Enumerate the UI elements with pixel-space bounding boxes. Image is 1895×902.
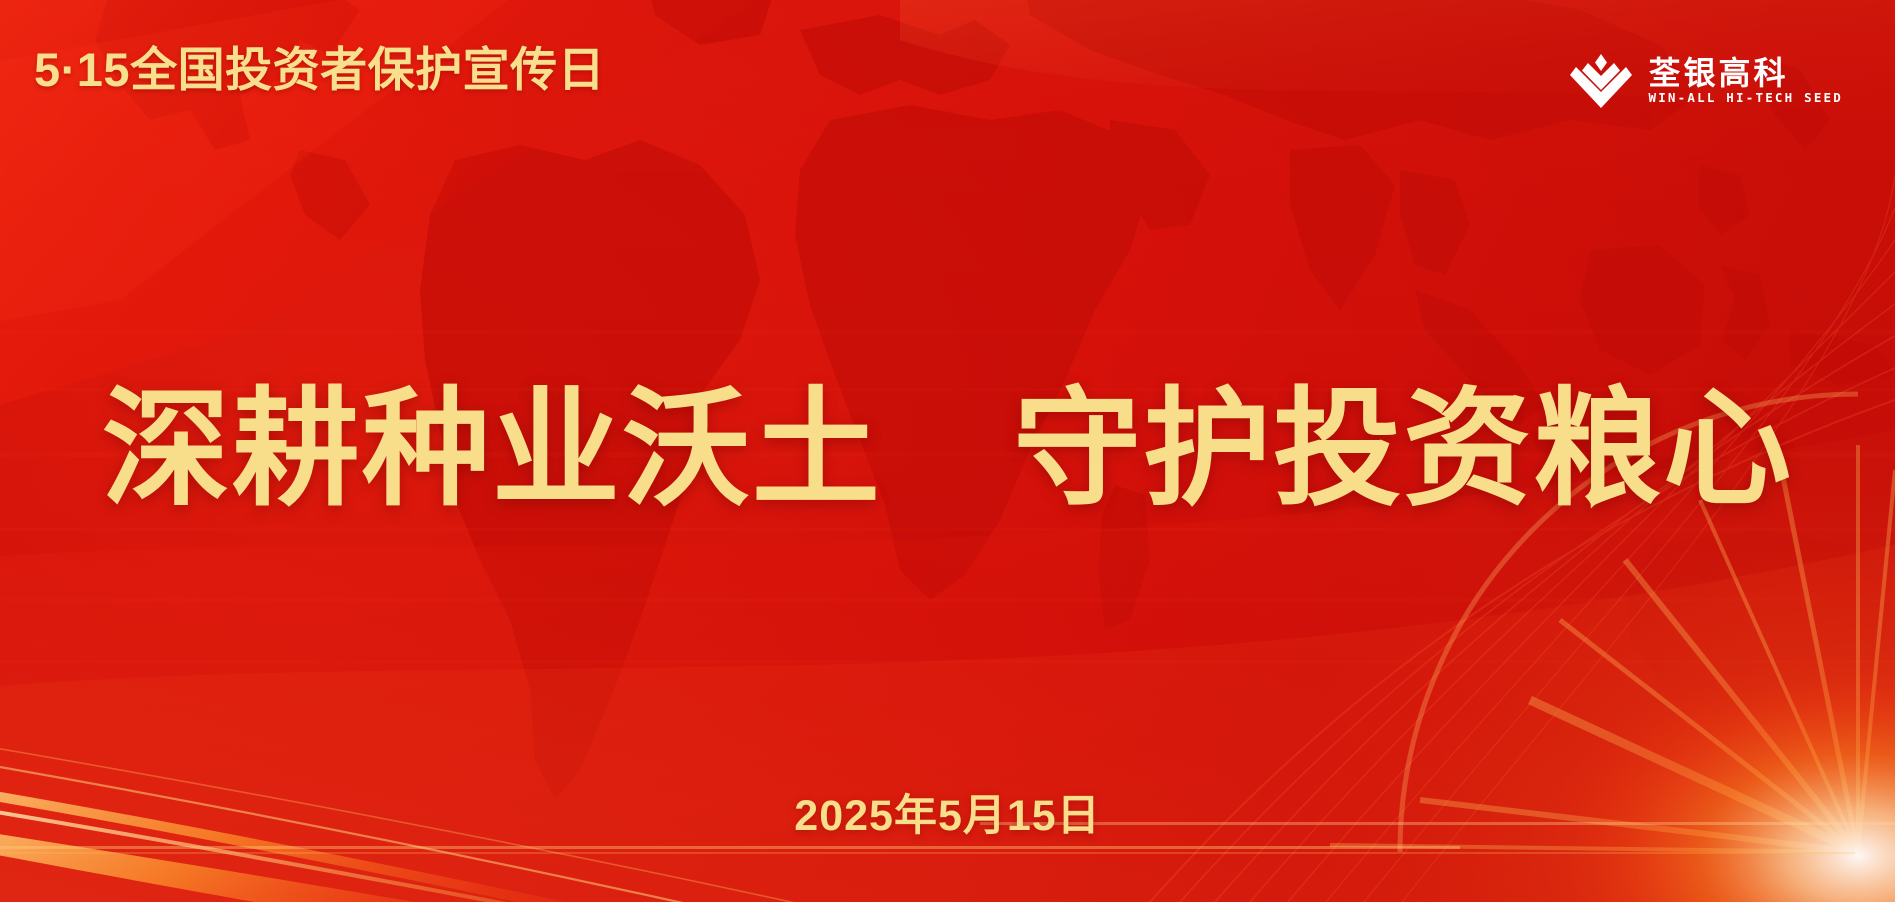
event-date-area: 2025年5月15日 <box>0 795 1895 838</box>
banner-header: 5·15全国投资者保护宣传日 荃银高科 WIN-ALL HI-TECH SEED <box>0 0 1895 150</box>
win-all-chevron-seed-mark-icon <box>1570 52 1632 110</box>
main-slogan: 深耕种业沃土 守护投资粮心 <box>102 383 1793 517</box>
slogan-part-2: 守护投资粮心 <box>1013 378 1793 521</box>
logo-text-block: 荃银高科 WIN-ALL HI-TECH SEED <box>1648 57 1843 105</box>
event-date: 2025年5月15日 <box>794 795 1100 838</box>
company-logo: 荃银高科 WIN-ALL HI-TECH SEED <box>1570 52 1843 110</box>
promotional-banner: 5·15全国投资者保护宣传日 荃银高科 WIN-ALL HI-TECH SEED <box>0 0 1895 902</box>
logo-name-en: WIN-ALL HI-TECH SEED <box>1648 92 1843 105</box>
slogan-part-1: 深耕种业沃土 <box>102 378 882 521</box>
main-slogan-area: 深耕种业沃土 守护投资粮心 <box>0 345 1895 555</box>
event-tag-label: 5·15全国投资者保护宣传日 <box>34 46 605 93</box>
logo-name-cn: 荃银高科 <box>1648 57 1843 89</box>
